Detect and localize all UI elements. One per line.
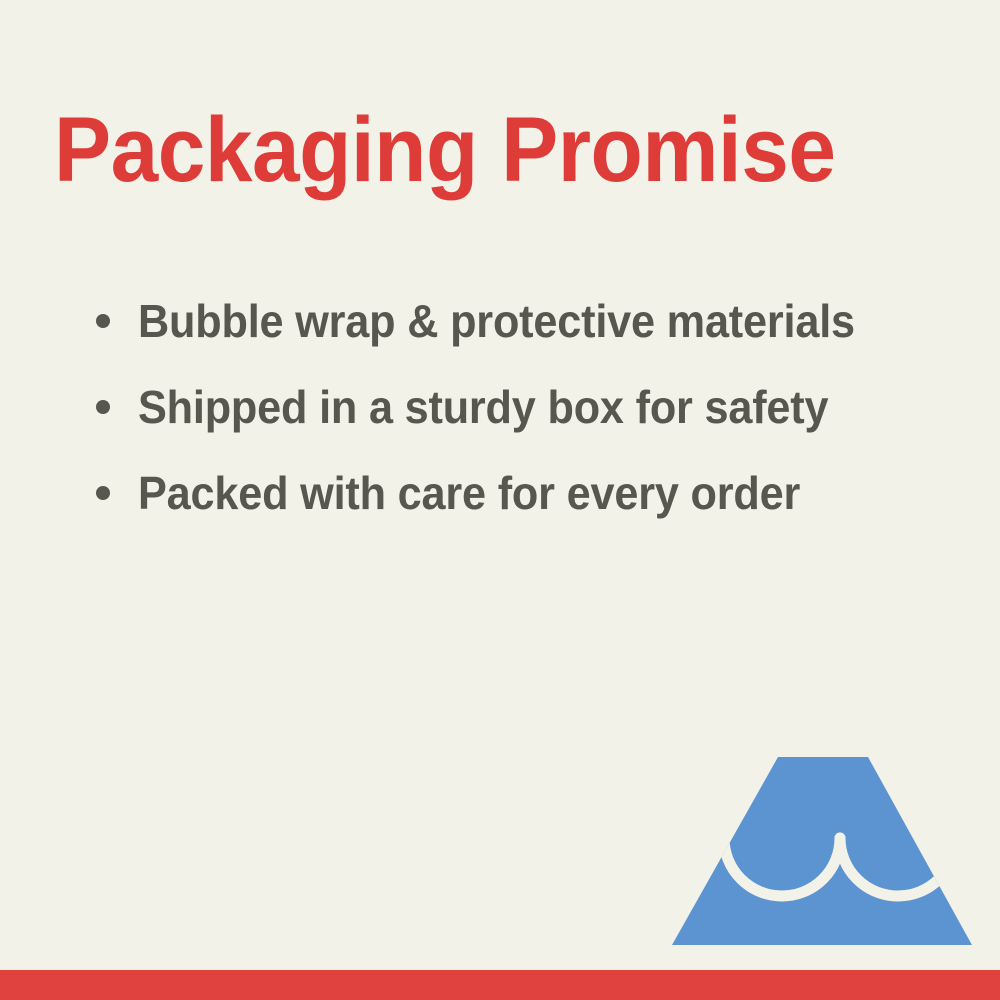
awning-trapezoid-logo-icon: [660, 748, 984, 952]
list-item: Packed with care for every order: [92, 450, 972, 536]
bullet-item-label: Bubble wrap & protective materials: [138, 298, 855, 344]
bullet-dot-icon: [96, 314, 110, 328]
page-title: Packaging Promise: [54, 104, 891, 196]
bullet-item-label: Packed with care for every order: [138, 470, 800, 516]
promise-slide: Packaging Promise Bubble wrap & protecti…: [0, 0, 1000, 1000]
list-item: Shipped in a sturdy box for safety: [92, 364, 972, 450]
footer-accent-bar: [0, 970, 1000, 1000]
bullet-item-label: Shipped in a sturdy box for safety: [138, 384, 828, 430]
list-item: Bubble wrap & protective materials: [92, 278, 972, 364]
bullet-dot-icon: [96, 400, 110, 414]
promise-bullet-list: Bubble wrap & protective materials Shipp…: [92, 278, 972, 536]
bullet-dot-icon: [96, 486, 110, 500]
